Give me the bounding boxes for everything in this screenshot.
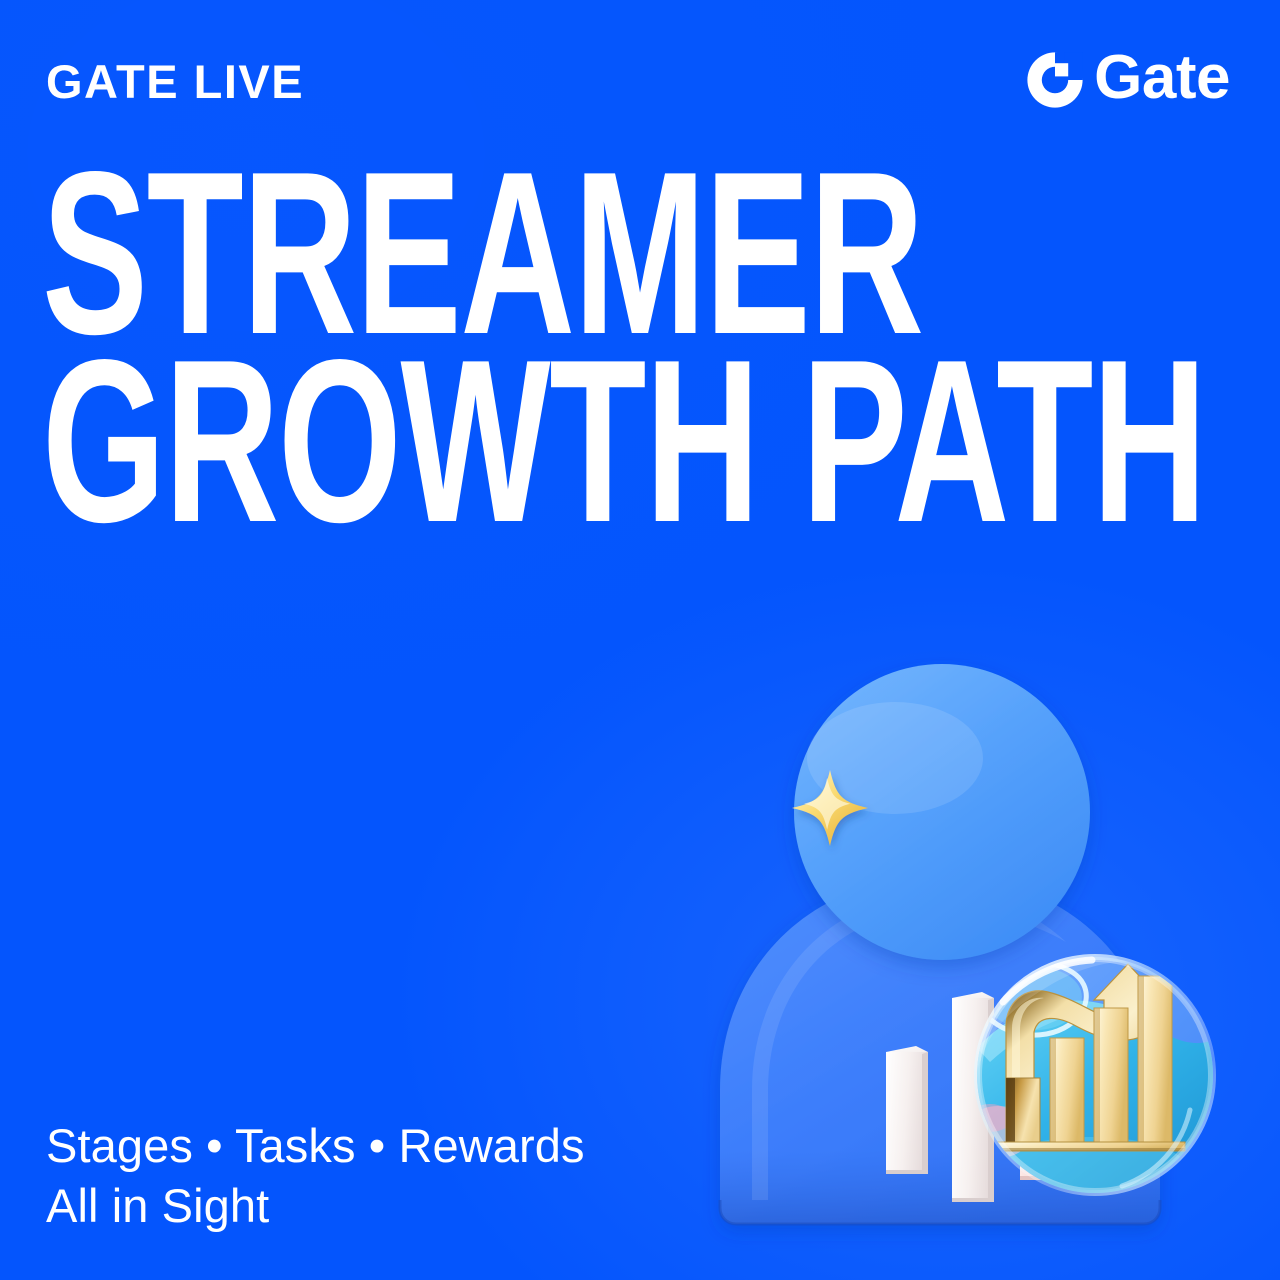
tagline-line-1: Stages • Tasks • Rewards [46, 1116, 585, 1176]
white-bar-1 [886, 1046, 928, 1174]
page-title: STREAMER GROWTH PATH [42, 152, 1242, 544]
gate-wordmark: Gate [1094, 47, 1230, 109]
tagline: Stages • Tasks • Rewards All in Sight [46, 1116, 585, 1236]
gate-brand-lockup[interactable]: Gate [1025, 47, 1230, 113]
gold-baseline [995, 1142, 1185, 1151]
tagline-line-2: All in Sight [46, 1176, 585, 1236]
kicker-gate-live: GATE LIVE [46, 58, 304, 105]
poster-canvas: GATE LIVE Gate S [0, 0, 1280, 1280]
gate-circle-logo-icon [1025, 50, 1085, 110]
headline-line-2: GROWTH PATH [42, 340, 865, 544]
gold-bar-1 [1006, 1078, 1040, 1144]
gold-bar-2 [1050, 1038, 1084, 1144]
gold-bar-3 [1094, 1008, 1128, 1144]
gold-bar-4 [1138, 976, 1172, 1144]
streamer-growth-3d-illustration [690, 680, 1250, 1240]
